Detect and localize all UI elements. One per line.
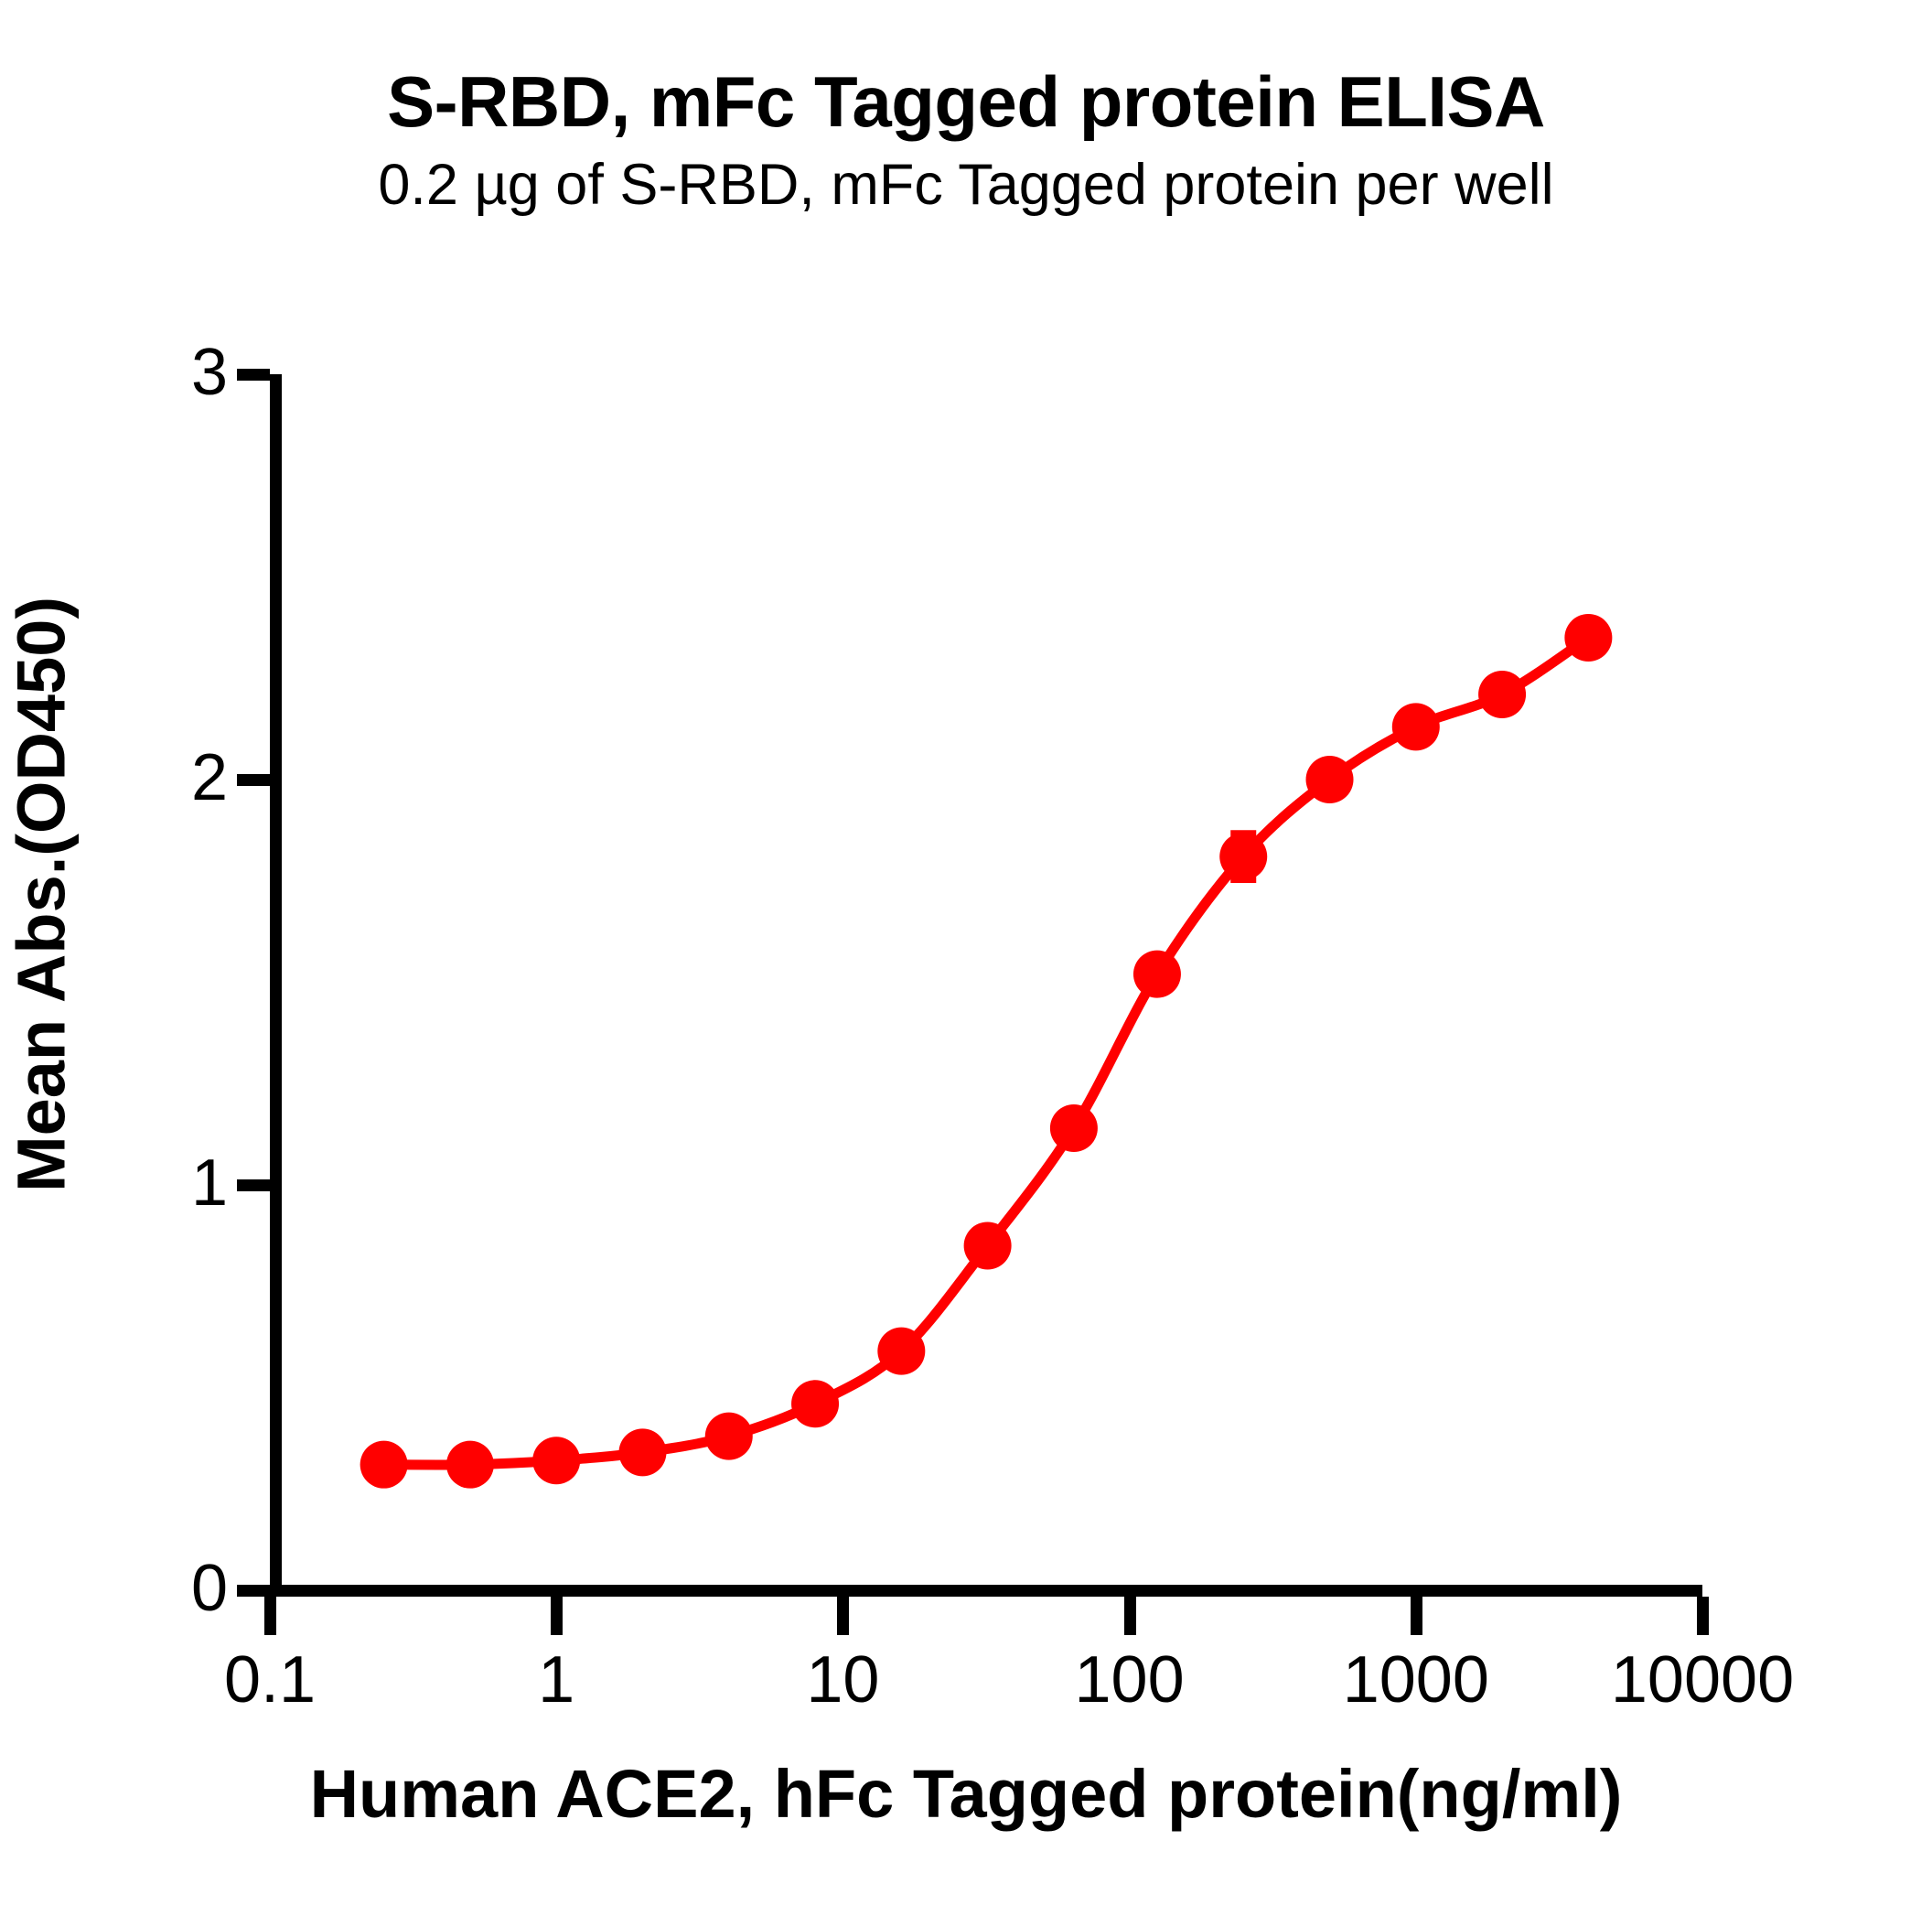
x-axis-title: Human ACE2, hFc Tagged protein(ng/ml)	[0, 1755, 1932, 1833]
x-tick-0.1	[264, 1597, 276, 1635]
y-axis-title: Mean Abs.(OD450)	[3, 346, 80, 1444]
x-tick-label-10: 10	[705, 1647, 980, 1713]
data-point-marker	[446, 1441, 494, 1489]
y-axis-line	[270, 374, 282, 1596]
x-tick-label-0.1: 0.1	[133, 1647, 407, 1713]
chart-subtitle: 0.2 µg of S-RBD, mFc Tagged protein per …	[0, 153, 1932, 218]
data-point-markers	[360, 614, 1613, 1489]
x-tick-label-10000: 10000	[1565, 1647, 1840, 1713]
x-tick-100	[1124, 1597, 1136, 1635]
x-tick-label-1000: 1000	[1279, 1647, 1553, 1713]
data-point-marker	[1133, 951, 1181, 998]
x-tick-1	[551, 1597, 563, 1635]
x-tick-10	[837, 1597, 849, 1635]
data-series-layer	[0, 0, 1932, 1905]
y-tick-label-0: 0	[127, 1555, 228, 1621]
data-point-marker	[1219, 833, 1267, 880]
data-point-marker	[1392, 703, 1440, 750]
x-tick-1000	[1411, 1597, 1422, 1635]
data-point-marker	[964, 1222, 1012, 1269]
title-block: S-RBD, mFc Tagged protein ELISA 0.2 µg o…	[0, 64, 1932, 217]
y-tick-2	[237, 774, 270, 786]
y-tick-label-1: 1	[127, 1150, 228, 1216]
data-point-marker	[532, 1437, 580, 1484]
error-bars	[1230, 834, 1256, 879]
data-point-marker	[1306, 756, 1354, 803]
data-point-marker	[360, 1441, 408, 1489]
x-tick-label-100: 100	[993, 1647, 1267, 1713]
data-point-marker	[618, 1428, 666, 1476]
chart-title: S-RBD, mFc Tagged protein ELISA	[0, 64, 1932, 140]
y-tick-label-3: 3	[127, 339, 228, 405]
y-tick-1	[237, 1179, 270, 1191]
error-bar	[1230, 834, 1256, 879]
y-tick-3	[237, 369, 270, 381]
data-point-marker	[1050, 1104, 1098, 1152]
x-axis-line	[270, 1585, 1702, 1597]
data-point-marker	[877, 1328, 925, 1375]
data-point-marker	[705, 1413, 753, 1460]
y-tick-0	[237, 1585, 270, 1597]
elisa-chart-figure: S-RBD, mFc Tagged protein ELISA 0.2 µg o…	[0, 0, 1932, 1905]
x-tick-label-1: 1	[419, 1647, 693, 1713]
data-point-marker	[791, 1380, 839, 1427]
data-point-marker	[1478, 671, 1526, 718]
x-tick-10000	[1697, 1597, 1709, 1635]
y-tick-label-2: 2	[127, 745, 228, 811]
fit-curve	[384, 638, 1589, 1465]
data-point-marker	[1564, 614, 1612, 662]
